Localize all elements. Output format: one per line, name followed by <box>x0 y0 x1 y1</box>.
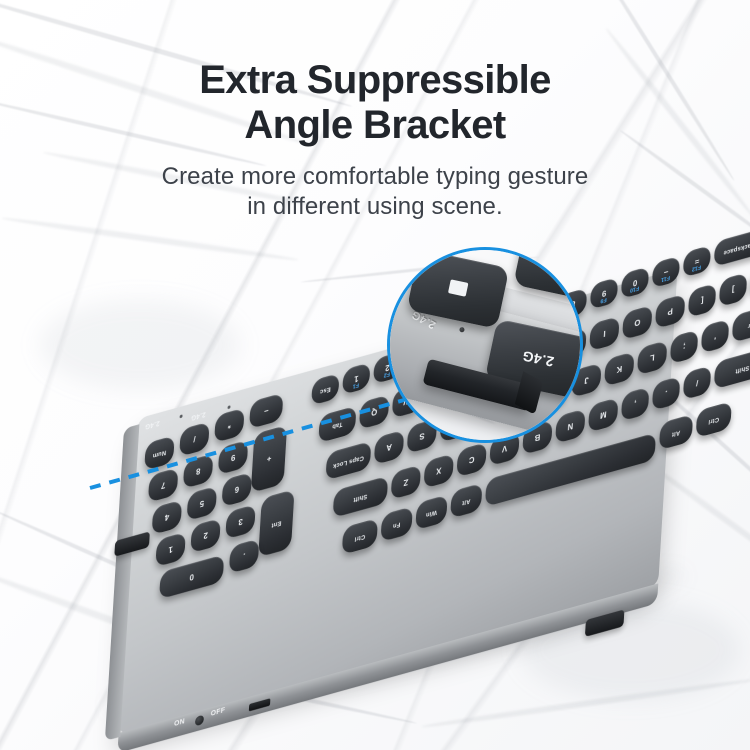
subtitle-line-1: Create more comfortable typing gesture <box>0 162 750 192</box>
subtitle-line-2: in different using scene. <box>0 192 750 222</box>
title-line-2: Angle Bracket <box>244 103 505 147</box>
micro-usb-port <box>249 698 271 711</box>
switch-off-label: OFF <box>210 707 225 718</box>
key-quote[interactable]: ' <box>701 319 730 354</box>
key-semicolon[interactable]: ; <box>670 329 699 364</box>
key-bracket-left[interactable]: [ <box>688 283 717 318</box>
bluetooth-glyph-icon <box>448 279 469 296</box>
page-subtitle: Create more comfortable typing gesture i… <box>0 162 750 222</box>
key-bracket-right[interactable]: ] <box>719 272 748 307</box>
power-switch[interactable] <box>195 715 204 727</box>
key-equal[interactable]: =F12 <box>683 245 712 278</box>
callout-key-24g-1-label: 2.4G <box>489 341 580 377</box>
key-backspace[interactable]: Backspace <box>714 228 750 267</box>
key-ctrl-right[interactable]: Ctrl <box>696 401 732 438</box>
key-enter[interactable]: Enter <box>732 303 750 343</box>
key-shift-right[interactable]: Shift <box>714 347 750 390</box>
title-line-1: Extra Suppressible <box>199 58 551 102</box>
magnifier-callout: 2.4G 2.4G 2.4G 2.4G <box>390 250 580 440</box>
headline-block: Extra Suppressible Angle Bracket Create … <box>0 58 750 222</box>
led-indicator-1 <box>394 297 400 303</box>
page-title: Extra Suppressible Angle Bracket <box>0 58 750 148</box>
switch-on-label: ON <box>174 718 185 728</box>
product-marketing-banner: Extra Suppressible Angle Bracket Create … <box>0 0 750 750</box>
led-indicator-2 <box>459 327 465 333</box>
key-slash[interactable]: / <box>683 365 712 400</box>
